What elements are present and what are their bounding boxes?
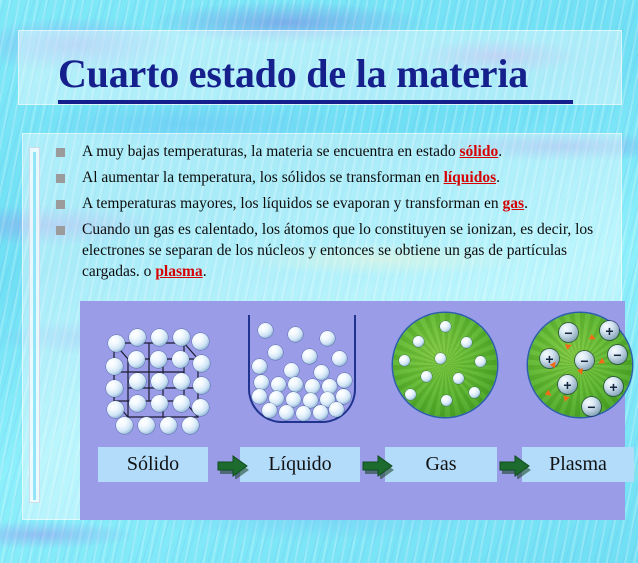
title-underline	[58, 100, 573, 104]
illustration-plasma-sphere: − + + − − + + −	[520, 301, 638, 437]
list-item: A temperaturas mayores, los líquidos se …	[56, 193, 628, 214]
bullet-marker-icon	[56, 226, 65, 235]
bullet-text-liquidos: Al aumentar la temperatura, los sólidos …	[82, 167, 500, 188]
label-liquido: Líquido	[240, 447, 360, 482]
left-accent-bar	[29, 147, 40, 503]
slide: Cuarto estado de la materia A muy bajas …	[0, 0, 638, 563]
label-gas: Gas	[385, 447, 497, 482]
keyword-plasma: plasma	[155, 263, 202, 280]
states-of-matter-diagram: − + + − − + + − Sólido Líquido Gas Plasm…	[80, 301, 625, 520]
bullet-marker-icon	[56, 148, 65, 157]
keyword-gas: gas	[503, 195, 525, 212]
bullet-list: A muy bajas temperaturas, la materia se …	[56, 141, 628, 287]
bullet-text-plasma: Cuando un gas es calentado, los átomos q…	[82, 219, 628, 282]
illustration-solid-lattice	[98, 301, 218, 437]
ion-negative: −	[559, 323, 578, 342]
list-item: A muy bajas temperaturas, la materia se …	[56, 141, 628, 162]
ion-negative: −	[582, 397, 601, 416]
arrow-solido-to-liquido	[213, 453, 251, 479]
ion-negative: −	[608, 345, 627, 364]
illustration-liquid-beaker	[240, 301, 362, 437]
ion-positive: +	[600, 321, 619, 340]
illustration-gas-sphere	[385, 301, 503, 437]
keyword-liquidos: líquidos	[444, 169, 497, 186]
keyword-solido: sólido	[459, 143, 498, 160]
list-item: Cuando un gas es calentado, los átomos q…	[56, 219, 628, 282]
bullet-marker-icon	[56, 200, 65, 209]
ion-positive: −	[575, 351, 594, 370]
label-plasma: Plasma	[522, 447, 634, 482]
bullet-marker-icon	[56, 174, 65, 183]
arrow-liquido-to-gas	[358, 453, 396, 479]
ion-positive: +	[604, 377, 623, 396]
list-item: Al aumentar la temperatura, los sólidos …	[56, 167, 628, 188]
arrow-gas-to-plasma	[495, 453, 533, 479]
label-solido: Sólido	[98, 447, 208, 482]
ion-negative: +	[558, 375, 577, 394]
bullet-text-solido: A muy bajas temperaturas, la materia se …	[82, 141, 502, 162]
bullet-text-gas: A temperaturas mayores, los líquidos se …	[82, 193, 528, 214]
page-title: Cuarto estado de la materia	[58, 52, 618, 96]
